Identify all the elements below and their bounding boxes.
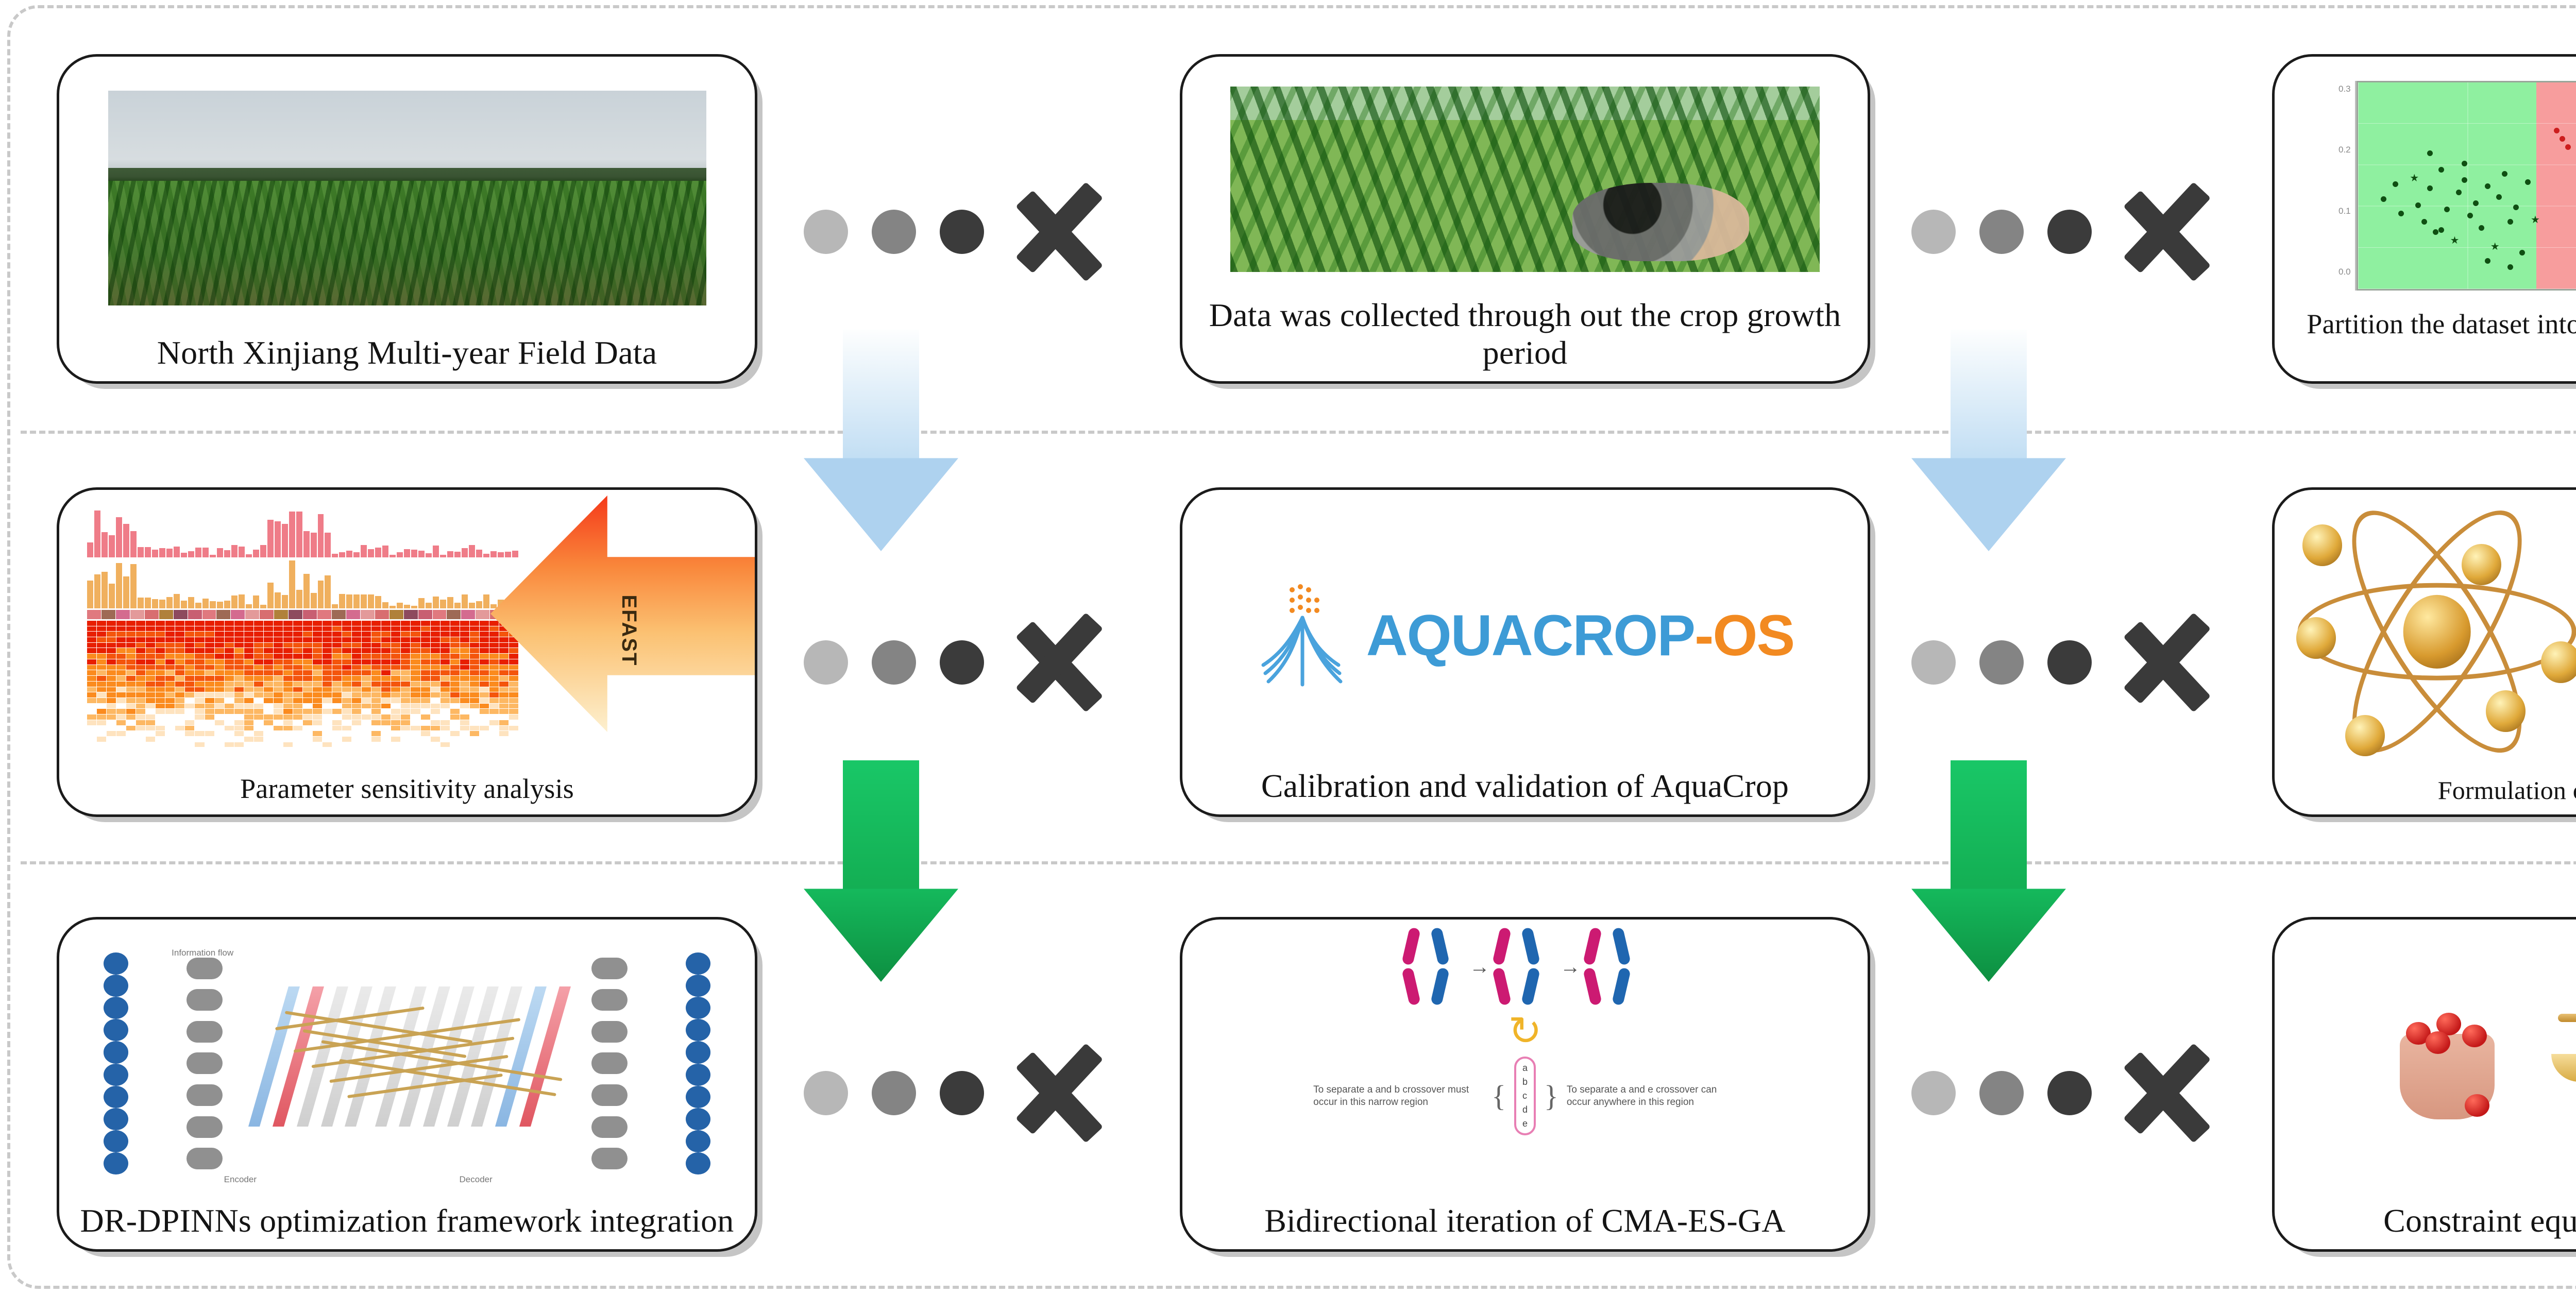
heatmap-cell [450, 698, 460, 703]
heatmap-cell [293, 714, 302, 720]
heatmap-cell [254, 682, 263, 687]
heatmap-cell [107, 753, 116, 758]
heatmap-cell [215, 648, 224, 653]
heatmap-cell [165, 726, 175, 731]
heatmap-cell [381, 737, 391, 742]
bar [166, 597, 173, 608]
heatmap-cell [274, 687, 283, 692]
bar [332, 604, 338, 608]
heatmap-cell [470, 742, 479, 747]
heatmap-cell [362, 632, 371, 637]
heatmap-cell [97, 687, 106, 692]
heatmap-cell [470, 720, 479, 725]
heatmap-cell [381, 759, 391, 764]
heatmap-cell [371, 737, 381, 742]
heatmap-cell [185, 709, 194, 714]
heatmap-cell [116, 692, 126, 697]
heatmap-cell [136, 742, 145, 747]
heatmap-cell [323, 714, 332, 720]
heatmap-cell [293, 659, 302, 665]
heatmap-cell [283, 742, 293, 747]
card-sensitivity[interactable]: EFAST Parameter sensitivity analysis [57, 487, 757, 817]
heatmap-cell [421, 759, 430, 764]
heatmap-cell [215, 720, 224, 725]
bar-series-first-order [87, 507, 518, 558]
heatmap-cell [421, 704, 430, 709]
heatmap-cell [509, 643, 518, 648]
heatmap-cell [175, 648, 184, 653]
heatmap-cell [313, 726, 322, 731]
heatmap-cell [264, 659, 273, 665]
heatmap-cell [440, 670, 450, 675]
card-field-data[interactable]: North Xinjiang Multi-year Field Data [57, 54, 757, 384]
heatmap-cell [165, 737, 175, 742]
heatmap-cell [254, 643, 263, 648]
heatmap-cell [234, 654, 244, 659]
heatmap-cell [126, 687, 135, 692]
heatmap-cell [440, 759, 450, 764]
heatmap-cell [126, 637, 135, 642]
heatmap-cell [97, 747, 106, 753]
nn-node [104, 1064, 128, 1086]
heatmap-cell [225, 637, 234, 642]
heatmap-cell [283, 731, 293, 736]
bar [289, 512, 295, 557]
heatmap-cell [215, 637, 224, 642]
card-calibration[interactable]: AQUACROP-OS Calibration and validation o… [1180, 487, 1870, 817]
nn-capsule [187, 1148, 223, 1169]
heatmap-cell [440, 709, 450, 714]
heatmap-cell [205, 643, 214, 648]
card-partition[interactable]: 0.3 0.2 0.1 0.0 ★★★★★★★★★★★★ Partition t… [2272, 54, 2576, 384]
nn-feature-slab [297, 986, 348, 1127]
heatmap-cell [185, 747, 194, 753]
bar [440, 555, 446, 557]
heatmap-cell [371, 747, 381, 753]
heatmap-cell [195, 643, 204, 648]
heatmap-cell [323, 682, 332, 687]
heatmap-cell [470, 621, 479, 626]
heatmap-cell [274, 643, 283, 648]
heatmap-cell [87, 714, 96, 720]
bar [188, 551, 194, 557]
heatmap-cell [244, 643, 253, 648]
heatmap-cell [391, 747, 400, 753]
heatmap-cell [293, 692, 302, 697]
heatmap-cell [362, 726, 371, 731]
heatmap-cell [421, 737, 430, 742]
heatmap-cell [470, 759, 479, 764]
card-caption: Formulation of physical constraints [2275, 774, 2576, 814]
heatmap-cell [470, 698, 479, 703]
heatmap-cell [205, 731, 214, 736]
heatmap-cell [234, 659, 244, 665]
nn-capsule [591, 1116, 628, 1138]
balance-scale-icon [2548, 988, 2576, 1132]
heatmap-cell [499, 637, 509, 642]
aquacrop-mark-icon [1256, 582, 1349, 690]
heatmap-cell [391, 759, 400, 764]
nn-capsule [187, 1052, 223, 1074]
heatmap-cell [342, 654, 351, 659]
heatmap-cell [195, 670, 204, 675]
heatmap-cell [381, 731, 391, 736]
heatmap-cell [185, 670, 194, 675]
heatmap-cell [283, 670, 293, 675]
sensitivity-figure: EFAST [59, 490, 755, 771]
progress-dot-3 [940, 1071, 984, 1115]
card-data-collection[interactable]: Data was collected through out the crop … [1180, 54, 1870, 384]
heatmap-cell [175, 709, 184, 714]
aquacrop-logo: AQUACROP-OS [1182, 490, 1868, 765]
heatmap-cell [185, 714, 194, 720]
heatmap-cell [411, 714, 420, 720]
heatmap-cell [509, 692, 518, 697]
heatmap-cell [401, 637, 410, 642]
bar [303, 610, 317, 619]
heatmap-cell [460, 621, 469, 626]
heatmap-cell [332, 709, 342, 714]
heatmap-cell [381, 670, 391, 675]
card-constraints[interactable]: Formulation of physical constraints [2272, 487, 2576, 817]
bar [152, 599, 158, 608]
heatmap-cell [431, 720, 440, 725]
heatmap-cell [342, 726, 351, 731]
heatmap-cell [107, 637, 116, 642]
heatmap-cell [107, 676, 116, 681]
heatmap-cell [480, 714, 489, 720]
heatmap-cell [195, 698, 204, 703]
bar [404, 605, 410, 608]
heatmap-cell [293, 737, 302, 742]
heatmap-cell [362, 621, 371, 626]
heatmap-cell [470, 643, 479, 648]
bar [512, 551, 518, 557]
heatmap-cell [332, 731, 342, 736]
heatmap-cell [401, 742, 410, 747]
heatmap-cell [470, 714, 479, 720]
heatmap-cell [352, 665, 361, 670]
heatmap-cell [450, 621, 460, 626]
heatmap-cell [87, 621, 96, 626]
heatmap-cell [381, 753, 391, 758]
heatmap-cell [274, 709, 283, 714]
heatmap-cell [165, 720, 175, 725]
heatmap-cell [156, 737, 165, 742]
heatmap-cell [136, 626, 145, 632]
heatmap-cell [264, 731, 273, 736]
heatmap-cell [126, 747, 135, 753]
heatmap-cell [313, 626, 322, 632]
heatmap-cell [116, 759, 126, 764]
heatmap-cell [146, 726, 155, 731]
heatmap-cell [293, 637, 302, 642]
heatmap-cell [116, 731, 126, 736]
heatmap-cell [421, 637, 430, 642]
heatmap-cell [460, 665, 469, 670]
heatmap-cell [136, 687, 145, 692]
heatmap-cell [460, 637, 469, 642]
chromosome-sequence: → → [1405, 928, 1645, 1005]
heatmap-cell [411, 648, 420, 653]
heatmap-cell [323, 737, 332, 742]
heatmap-cell [499, 742, 509, 747]
heatmap-cell [205, 670, 214, 675]
heatmap-cell [313, 654, 322, 659]
heatmap-cell [136, 659, 145, 665]
heatmap-grid [87, 621, 518, 764]
heatmap-cell [136, 714, 145, 720]
card-caption: Partition the dataset into training, tes… [2275, 307, 2576, 381]
bar [181, 553, 187, 557]
heatmap-cell [470, 692, 479, 697]
heatmap-cell [460, 659, 469, 665]
heatmap-panel [87, 507, 518, 738]
heatmap-cell [146, 692, 155, 697]
heatmap-cell [431, 698, 440, 703]
heatmap-cell [107, 659, 116, 665]
heatmap-cell [440, 637, 450, 642]
heatmap-cell [146, 659, 155, 665]
heatmap-cell [381, 709, 391, 714]
heatmap-cell [165, 637, 175, 642]
heatmap-cell [264, 742, 273, 747]
heatmap-cell [401, 704, 410, 709]
heatmap-cell [391, 692, 400, 697]
heatmap-cell [195, 759, 204, 764]
heatmap-cell [460, 726, 469, 731]
chevron-right-icon [1021, 585, 1119, 740]
heatmap-cell [215, 659, 224, 665]
bar [159, 610, 173, 619]
heatmap-cell [480, 676, 489, 681]
bar [490, 551, 497, 558]
heatmap-cell [107, 737, 116, 742]
scatter-point [2485, 183, 2490, 189]
heatmap-cell [332, 648, 342, 653]
heatmap-cell [107, 621, 116, 626]
heatmap-cell [274, 747, 283, 753]
heatmap-cell [165, 632, 175, 637]
heatmap-cell [87, 698, 96, 703]
heatmap-cell [254, 637, 263, 642]
heatmap-cell [225, 659, 234, 665]
heatmap-cell [156, 714, 165, 720]
heatmap-cell [470, 682, 479, 687]
heatmap-cell [107, 682, 116, 687]
heatmap-cell [323, 654, 332, 659]
bar [346, 551, 352, 557]
heatmap-cell [371, 637, 381, 642]
bar [476, 601, 482, 608]
heatmap-cell [107, 704, 116, 709]
heatmap-cell [136, 737, 145, 742]
heatmap-cell [431, 643, 440, 648]
heatmap-cell [431, 632, 440, 637]
heatmap-cell [421, 665, 430, 670]
aquacrop-word-suffix: -OS [1694, 603, 1794, 668]
heatmap-cell [313, 659, 322, 665]
heatmap-cell [391, 643, 400, 648]
heatmap-cell [205, 759, 214, 764]
heatmap-cell [499, 670, 509, 675]
scatter-point [2421, 219, 2427, 225]
heatmap-cell [87, 654, 96, 659]
heatmap-cell [509, 720, 518, 725]
heatmap-cell [146, 682, 155, 687]
heatmap-cell [175, 753, 184, 758]
heatmap-cell [274, 665, 283, 670]
harvest-sack-icon [2393, 1001, 2501, 1119]
heatmap-cell [421, 709, 430, 714]
scatter-point: ★ [2450, 235, 2459, 246]
card-cmaesga[interactable]: → → ↻ To separate a and b crosso [1180, 917, 1870, 1252]
progress-dot-2 [872, 210, 916, 254]
heatmap-cell [185, 704, 194, 709]
nn-capsule [187, 1116, 223, 1138]
heatmap-cell [313, 637, 322, 642]
heatmap-cell [264, 737, 273, 742]
heatmap-cell [107, 665, 116, 670]
heatmap-cell [185, 621, 194, 626]
heatmap-cell [323, 726, 332, 731]
heatmap-cell [371, 665, 381, 670]
heatmap-cell [391, 753, 400, 758]
heatmap-cell [391, 698, 400, 703]
heatmap-cell [391, 626, 400, 632]
card-equilibrium[interactable]: Constraint equilibrium optimization [2272, 917, 2576, 1252]
bar [397, 603, 403, 608]
heatmap-cell [362, 714, 371, 720]
heatmap-cell [293, 687, 302, 692]
connector-row1-b [1911, 155, 2227, 309]
atom-electron [2462, 544, 2501, 586]
heatmap-cell [440, 737, 450, 742]
heatmap-cell [323, 626, 332, 632]
heatmap-cell [489, 726, 499, 731]
heatmap-cell [195, 726, 204, 731]
heatmap-cell [362, 709, 371, 714]
heatmap-cell [303, 676, 312, 681]
heatmap-cell [264, 698, 273, 703]
heatmap-cell [116, 621, 126, 626]
card-drdpinns[interactable]: Encoder Decoder Information flow DR-DPIN… [57, 917, 757, 1252]
atom-icon [2284, 510, 2576, 754]
heatmap-cell [470, 753, 479, 758]
heatmap-cell [156, 753, 165, 758]
heatmap-cell [254, 626, 263, 632]
heatmap-cell [146, 720, 155, 725]
heatmap-cell [371, 682, 381, 687]
heatmap-cell [185, 676, 194, 681]
heatmap-cell [175, 682, 184, 687]
heatmap-cell [136, 747, 145, 753]
y-tick: 0.0 [2338, 267, 2351, 277]
heatmap-cell [323, 659, 332, 665]
heatmap-cell [509, 648, 518, 653]
chevron-right-icon [2129, 1016, 2227, 1170]
heatmap-cell [421, 747, 430, 753]
heatmap-cell [293, 704, 302, 709]
heatmap-cell [381, 687, 391, 692]
heatmap-cell [431, 659, 440, 665]
heatmap-cell [156, 637, 165, 642]
heatmap-cell [489, 709, 499, 714]
heatmap-cell [421, 687, 430, 692]
progress-dot-3 [2047, 1071, 2092, 1115]
heatmap-cell [362, 654, 371, 659]
heatmap-cell [116, 665, 126, 670]
heatmap-cell [234, 682, 244, 687]
heatmap-cell [126, 759, 135, 764]
heatmap-cell [205, 742, 214, 747]
heatmap-cell [362, 637, 371, 642]
heatmap-cell [165, 742, 175, 747]
bar [231, 610, 245, 619]
heatmap-cell [499, 753, 509, 758]
heatmap-cell [264, 682, 273, 687]
heatmap-cell [234, 720, 244, 725]
heatmap-cell [470, 709, 479, 714]
heatmap-cell [499, 747, 509, 753]
heatmap-cell [126, 704, 135, 709]
scatter-point [2485, 258, 2490, 264]
heatmap-cell [215, 687, 224, 692]
bar [404, 610, 418, 619]
heatmap-cell [225, 726, 234, 731]
heatmap-cell [401, 648, 410, 653]
heatmap-cell [313, 621, 322, 626]
heatmap-cell [509, 759, 518, 764]
heatmap-cell [431, 737, 440, 742]
heatmap-cell [185, 742, 194, 747]
heatmap-cell [254, 654, 263, 659]
heatmap-cell [215, 682, 224, 687]
heatmap-cell [450, 709, 460, 714]
bar [188, 610, 202, 619]
heatmap-cell [97, 709, 106, 714]
bar [123, 576, 129, 608]
heatmap-cell [440, 632, 450, 637]
heatmap-cell [342, 720, 351, 725]
nn-capsule [591, 1084, 628, 1106]
heatmap-cell [450, 687, 460, 692]
heatmap-cell [460, 759, 469, 764]
progress-dot-1 [1911, 210, 1956, 254]
heatmap-cell [431, 637, 440, 642]
bar [188, 597, 194, 608]
heatmap-cell [87, 731, 96, 736]
heatmap-cell [205, 621, 214, 626]
heatmap-cell [499, 648, 509, 653]
heatmap-cell [107, 626, 116, 632]
heatmap-cell [489, 720, 499, 725]
heatmap-cell [303, 626, 312, 632]
heatmap-cell [126, 737, 135, 742]
heatmap-cell [323, 753, 332, 758]
heatmap-cell [480, 626, 489, 632]
bar [483, 554, 489, 558]
heatmap-cell [264, 753, 273, 758]
heatmap-cell [175, 737, 184, 742]
heatmap-cell [116, 726, 126, 731]
heatmap-cell [156, 747, 165, 753]
heatmap-cell [97, 654, 106, 659]
heatmap-cell [274, 742, 283, 747]
heatmap-cell [293, 654, 302, 659]
scatter-point [2433, 229, 2438, 235]
heatmap-cell [116, 714, 126, 720]
